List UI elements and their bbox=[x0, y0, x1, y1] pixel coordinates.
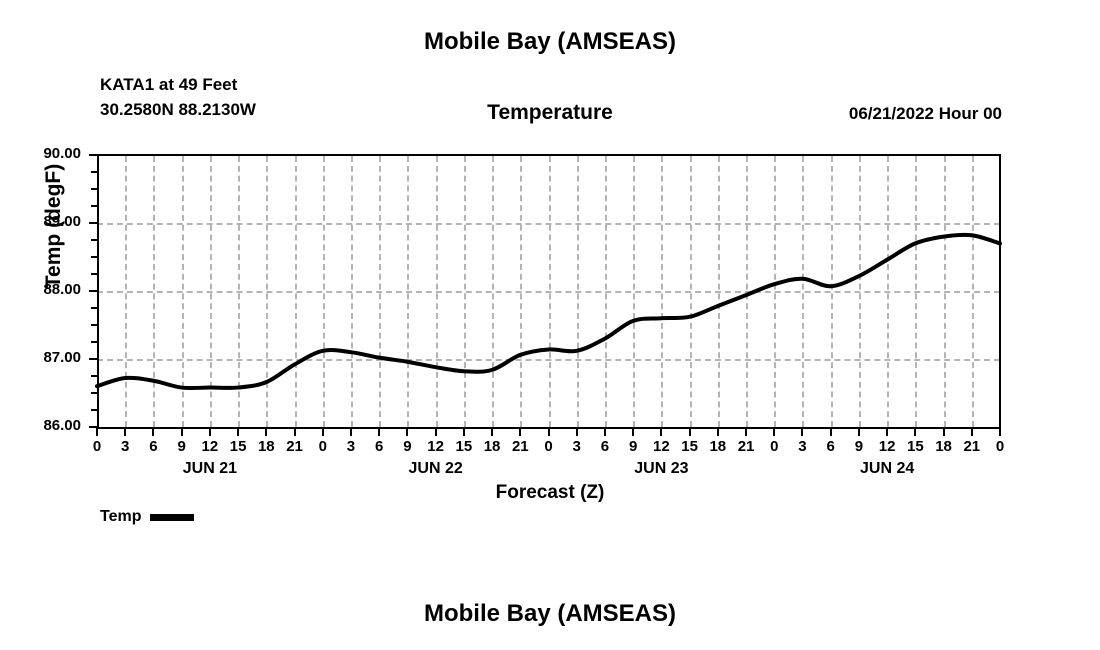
gridline-vertical bbox=[125, 156, 127, 427]
gridline-vertical bbox=[407, 156, 409, 427]
x-axis-tick-mark bbox=[237, 428, 239, 436]
x-axis-tick-mark bbox=[801, 428, 803, 436]
plot-border-right bbox=[999, 155, 1001, 428]
x-axis-title: Forecast (Z) bbox=[0, 482, 1100, 504]
x-axis-tick-mark bbox=[604, 428, 606, 436]
x-axis-tick-mark bbox=[491, 428, 493, 436]
x-axis-tick-mark bbox=[209, 428, 211, 436]
chart-page: Mobile Bay (AMSEAS) KATA1 at 49 Feet 30.… bbox=[0, 0, 1100, 650]
x-axis-tick-mark bbox=[435, 428, 437, 436]
page-title-bottom: Mobile Bay (AMSEAS) bbox=[0, 600, 1100, 628]
x-axis-tick-mark bbox=[548, 428, 550, 436]
legend: Temp bbox=[100, 508, 194, 526]
x-axis-tick-mark bbox=[96, 428, 98, 436]
legend-line-swatch bbox=[150, 514, 194, 521]
x-axis-tick-mark bbox=[294, 428, 296, 436]
gridline-vertical bbox=[549, 156, 551, 427]
x-axis-tick-mark bbox=[999, 428, 1001, 436]
plot-border-top bbox=[97, 154, 1001, 156]
x-axis-tick-mark bbox=[914, 428, 916, 436]
gridline-vertical bbox=[464, 156, 466, 427]
gridline-vertical bbox=[633, 156, 635, 427]
x-axis-day-label: JUN 23 bbox=[591, 460, 731, 478]
x-axis-day-label: JUN 21 bbox=[140, 460, 280, 478]
y-axis-tick-label: 90.00 bbox=[0, 145, 81, 162]
y-axis-tick-label: 86.00 bbox=[0, 417, 81, 434]
page-title-top: Mobile Bay (AMSEAS) bbox=[0, 28, 1100, 56]
gridline-vertical bbox=[210, 156, 212, 427]
x-axis-tick-mark bbox=[152, 428, 154, 436]
gridline-vertical bbox=[182, 156, 184, 427]
gridline-vertical bbox=[436, 156, 438, 427]
x-axis-tick-mark bbox=[350, 428, 352, 436]
x-axis-tick-mark bbox=[830, 428, 832, 436]
gridline-vertical bbox=[323, 156, 325, 427]
x-axis-tick-mark bbox=[773, 428, 775, 436]
gridline-vertical bbox=[379, 156, 381, 427]
gridline-vertical bbox=[577, 156, 579, 427]
x-axis-tick-mark bbox=[124, 428, 126, 436]
x-axis-tick-mark bbox=[886, 428, 888, 436]
gridline-vertical bbox=[605, 156, 607, 427]
x-axis-tick-mark bbox=[181, 428, 183, 436]
x-axis-tick-label: 0 bbox=[980, 438, 1020, 455]
x-axis-tick-mark bbox=[717, 428, 719, 436]
gridline-vertical bbox=[238, 156, 240, 427]
legend-label: Temp bbox=[100, 508, 141, 526]
gridline-vertical bbox=[153, 156, 155, 427]
model-run-timestamp: 06/21/2022 Hour 00 bbox=[849, 104, 1002, 124]
gridline-vertical bbox=[972, 156, 974, 427]
x-axis-tick-mark bbox=[576, 428, 578, 436]
plot-border-left bbox=[97, 155, 99, 428]
gridline-vertical bbox=[774, 156, 776, 427]
x-axis-tick-mark bbox=[406, 428, 408, 436]
gridline-vertical bbox=[492, 156, 494, 427]
gridline-vertical bbox=[718, 156, 720, 427]
x-axis-tick-mark bbox=[519, 428, 521, 436]
gridline-vertical bbox=[661, 156, 663, 427]
x-axis-tick-mark bbox=[265, 428, 267, 436]
gridline-vertical bbox=[887, 156, 889, 427]
x-axis-day-label: JUN 22 bbox=[366, 460, 506, 478]
gridline-vertical bbox=[831, 156, 833, 427]
gridline-vertical bbox=[266, 156, 268, 427]
station-name-depth: KATA1 at 49 Feet bbox=[100, 72, 256, 97]
y-axis-tick-label: 87.00 bbox=[0, 349, 81, 366]
gridline-vertical bbox=[944, 156, 946, 427]
x-axis-tick-mark bbox=[660, 428, 662, 436]
plot-border-bottom bbox=[97, 427, 1001, 429]
x-axis-tick-mark bbox=[745, 428, 747, 436]
x-axis-tick-mark bbox=[632, 428, 634, 436]
x-axis-tick-mark bbox=[943, 428, 945, 436]
gridline-vertical bbox=[915, 156, 917, 427]
y-axis-tick-label: 88.00 bbox=[0, 281, 81, 298]
x-axis-tick-mark bbox=[858, 428, 860, 436]
gridline-vertical bbox=[746, 156, 748, 427]
y-axis-tick-label: 89.00 bbox=[0, 213, 81, 230]
x-axis-day-label: JUN 24 bbox=[817, 460, 957, 478]
gridline-vertical bbox=[351, 156, 353, 427]
gridline-vertical bbox=[295, 156, 297, 427]
x-axis-tick-mark bbox=[463, 428, 465, 436]
gridline-vertical bbox=[520, 156, 522, 427]
gridline-vertical bbox=[859, 156, 861, 427]
x-axis-tick-mark bbox=[378, 428, 380, 436]
gridline-vertical bbox=[802, 156, 804, 427]
x-axis-tick-mark bbox=[322, 428, 324, 436]
gridline-vertical bbox=[690, 156, 692, 427]
x-axis-tick-mark bbox=[971, 428, 973, 436]
x-axis-tick-mark bbox=[689, 428, 691, 436]
